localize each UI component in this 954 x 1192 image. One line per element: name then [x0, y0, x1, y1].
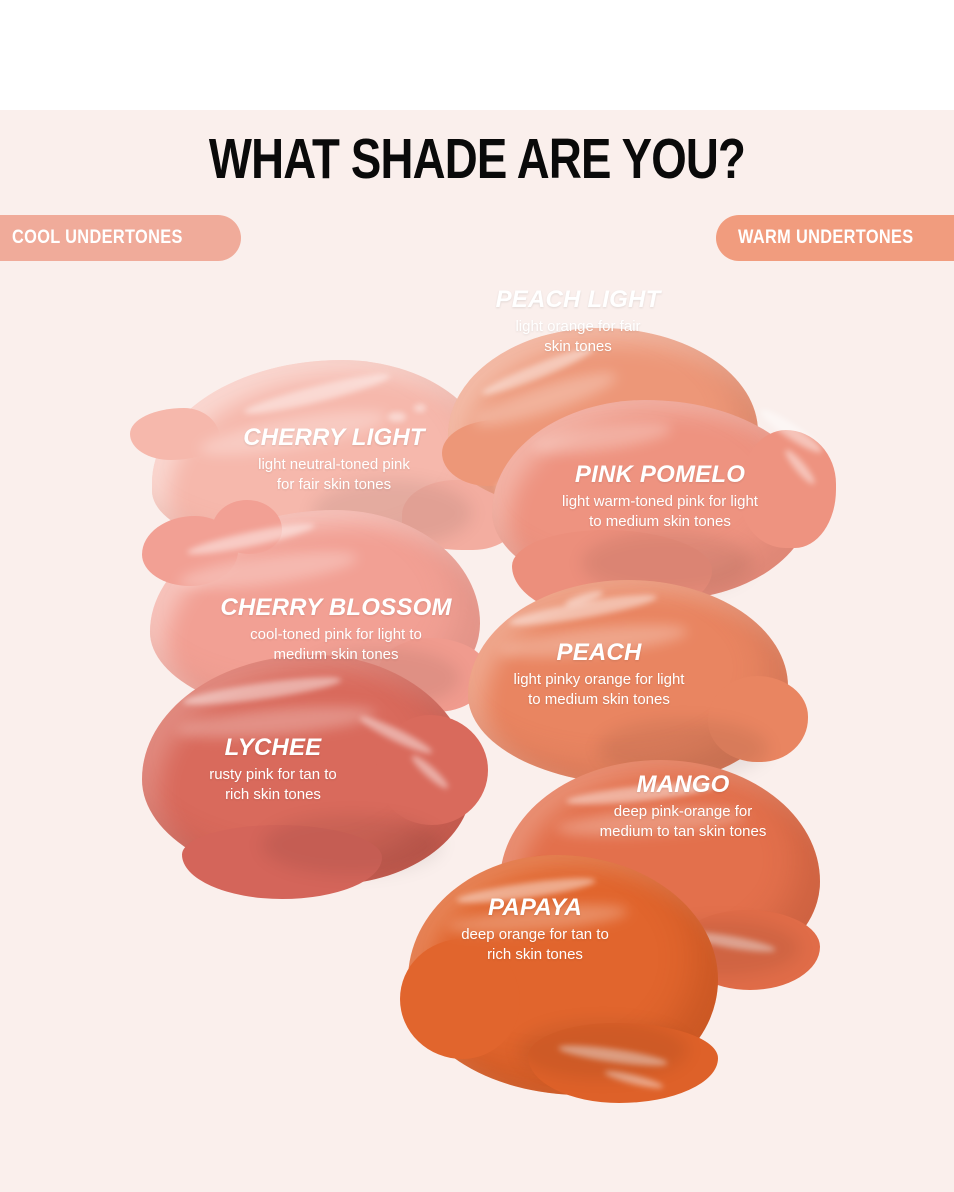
shade-name: PINK POMELO [520, 462, 800, 488]
shade-name: PEACH LIGHT [448, 287, 708, 313]
shade-desc-line: rusty pink for tan to [142, 765, 404, 784]
shade-desc-line: light neutral-toned pink [205, 455, 463, 474]
shade-name: PEACH [470, 640, 728, 666]
shade-label-pink-pomelo: PINK POMELO light warm-toned pink for li… [520, 462, 800, 531]
shade-name: PAPAYA [404, 895, 666, 921]
shade-desc-line: cool-toned pink for light to [192, 625, 480, 644]
shade-desc-line: medium to tan skin tones [552, 822, 814, 841]
shade-desc-line: to medium skin tones [470, 690, 728, 709]
shade-desc-line: for fair skin tones [205, 475, 463, 494]
shade-label-cherry-light: CHERRY LIGHT light neutral-toned pink fo… [205, 425, 463, 494]
warm-undertones-badge: WARM UNDERTONES [716, 215, 954, 261]
shade-label-cherry-blossom: CHERRY BLOSSOM cool-toned pink for light… [192, 595, 480, 664]
cool-undertones-label: COOL UNDERTONES [12, 227, 183, 249]
shade-label-papaya: PAPAYA deep orange for tan to rich skin … [404, 895, 666, 964]
shade-name: CHERRY BLOSSOM [192, 595, 480, 621]
shade-label-peach-light: PEACH LIGHT light orange for fair skin t… [448, 287, 708, 356]
shade-desc-line: rich skin tones [404, 945, 666, 964]
shade-desc-line: to medium skin tones [520, 512, 800, 531]
cool-undertones-badge: COOL UNDERTONES [0, 215, 241, 261]
shade-label-mango: MANGO deep pink-orange for medium to tan… [552, 772, 814, 841]
shade-guide-poster: PEACH LIGHT light orange for fair skin t… [0, 0, 954, 1192]
shade-desc-line: medium skin tones [192, 645, 480, 664]
shade-name: MANGO [552, 772, 814, 798]
shade-label-lychee: LYCHEE rusty pink for tan to rich skin t… [142, 735, 404, 804]
shade-desc-line: skin tones [448, 337, 708, 356]
papaya-blob [408, 855, 718, 1095]
shade-desc-line: rich skin tones [142, 785, 404, 804]
shade-label-peach: PEACH light pinky orange for light to me… [470, 640, 728, 709]
poster-canvas: PEACH LIGHT light orange for fair skin t… [0, 110, 954, 1192]
page-title: WHAT SHADE ARE YOU? [95, 130, 858, 190]
warm-undertones-label: WARM UNDERTONES [738, 227, 914, 249]
shade-desc-line: deep pink-orange for [552, 802, 814, 821]
shade-desc-line: light warm-toned pink for light [520, 492, 800, 511]
shade-name: CHERRY LIGHT [205, 425, 463, 451]
swatch-papaya [408, 855, 718, 1095]
shade-desc-line: deep orange for tan to [404, 925, 666, 944]
shade-desc-line: light pinky orange for light [470, 670, 728, 689]
shade-desc-line: light orange for fair [448, 317, 708, 336]
shade-name: LYCHEE [142, 735, 404, 761]
